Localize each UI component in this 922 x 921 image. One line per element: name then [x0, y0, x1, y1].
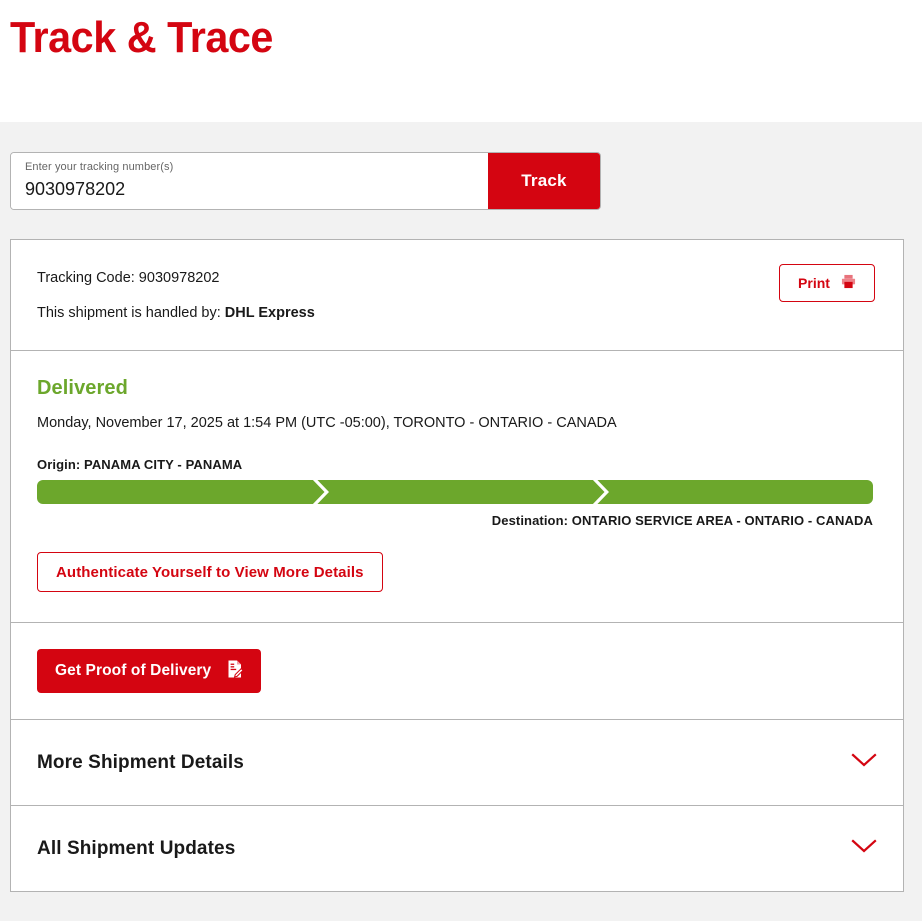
- accordion-label: All Shipment Updates: [37, 838, 235, 860]
- document-signature-icon: [225, 659, 245, 684]
- carrier-name: DHL Express: [225, 305, 315, 321]
- tracking-code-text: Tracking Code: 9030978202: [37, 268, 315, 289]
- tracking-input-label: Enter your tracking number(s): [25, 160, 474, 174]
- tracking-search-area: Enter your tracking number(s) Track: [10, 122, 912, 210]
- status-detail-text: Monday, November 17, 2025 at 1:54 PM (UT…: [37, 413, 877, 433]
- get-proof-of-delivery-button[interactable]: Get Proof of Delivery: [37, 649, 261, 693]
- chevron-down-icon[interactable]: [851, 752, 877, 773]
- accordion-more-shipment-details[interactable]: More Shipment Details: [11, 720, 903, 806]
- tracking-number-input[interactable]: [25, 177, 474, 201]
- accordion-all-shipment-updates[interactable]: All Shipment Updates: [11, 806, 903, 892]
- chevron-down-icon[interactable]: [851, 838, 877, 859]
- print-button[interactable]: Print: [779, 264, 875, 302]
- status-title: Delivered: [37, 375, 877, 401]
- destination-label: Destination: ONTARIO SERVICE AREA - ONTA…: [37, 513, 873, 528]
- pod-button-label: Get Proof of Delivery: [55, 662, 211, 680]
- shipment-progress-block: Origin: PANAMA CITY - PANAMA Destination…: [37, 457, 877, 528]
- print-button-label: Print: [798, 275, 830, 291]
- shipment-meta: Tracking Code: 9030978202 This shipment …: [37, 264, 315, 324]
- track-button[interactable]: Track: [488, 153, 600, 209]
- handled-by-prefix: This shipment is handled by:: [37, 305, 221, 321]
- page-title: Track & Trace: [10, 0, 273, 64]
- page-body: Enter your tracking number(s) Track Trac…: [0, 122, 922, 921]
- handled-by-text: This shipment is handled by: DHL Express: [37, 303, 315, 324]
- tracking-search-box: Enter your tracking number(s) Track: [10, 152, 601, 210]
- progress-bar: [37, 480, 873, 504]
- accordion-label: More Shipment Details: [37, 752, 244, 774]
- shipment-status-section: Delivered Monday, November 17, 2025 at 1…: [11, 351, 903, 623]
- printer-icon: [841, 274, 856, 292]
- tracking-result-card: Tracking Code: 9030978202 This shipment …: [10, 239, 904, 892]
- tracking-input-wrapper[interactable]: Enter your tracking number(s): [11, 153, 488, 209]
- page-header: Track & Trace: [0, 0, 922, 122]
- authenticate-button[interactable]: Authenticate Yourself to View More Detai…: [37, 552, 383, 592]
- shipment-header-section: Tracking Code: 9030978202 This shipment …: [11, 240, 903, 351]
- origin-label: Origin: PANAMA CITY - PANAMA: [37, 457, 877, 472]
- proof-of-delivery-section: Get Proof of Delivery: [11, 623, 903, 720]
